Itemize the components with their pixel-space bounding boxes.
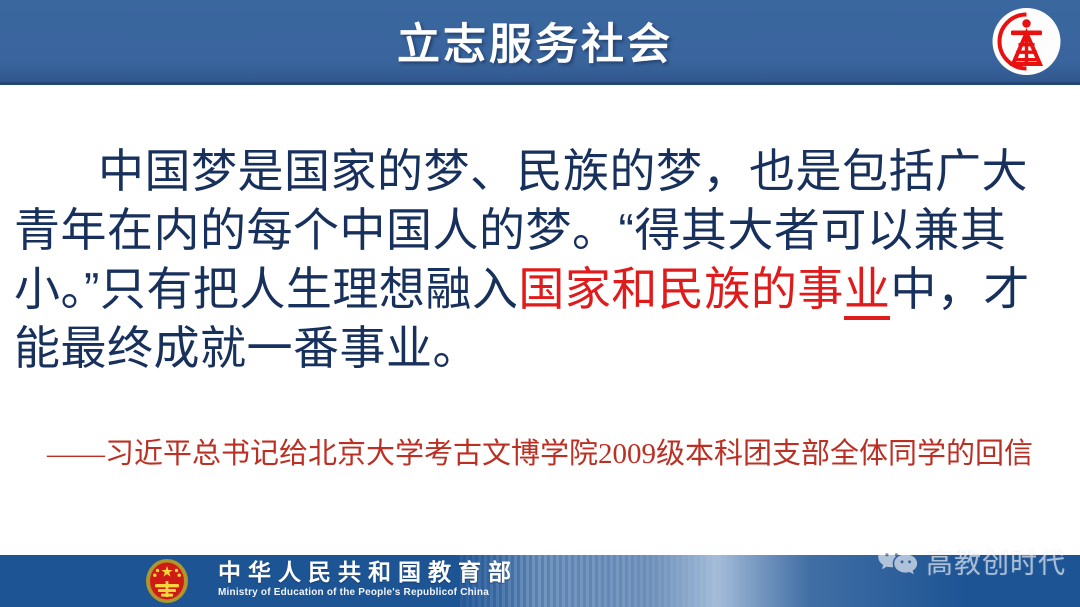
slide-body-text: 中国梦是国家的梦、民族的梦，也是包括广大青年在内的每个中国人的梦。“得其大者可以… — [14, 142, 1066, 378]
red-circular-institution-emblem-icon — [991, 7, 1062, 76]
body-segment-highlight: 国家和民族的事 — [518, 263, 844, 315]
ministry-name-cn: 中华人民共和国教育部 — [218, 559, 518, 586]
body-segment-highlight-underlined: 业 — [844, 263, 891, 320]
ministry-name-block: 中华人民共和国教育部 Ministry of Education of the … — [218, 559, 518, 599]
attribution-source: ——习近平总书记给北京大学考古文博学院2009级本科团支部全体同学的回信 — [0, 430, 1080, 472]
page-title: 立志服务社会 — [0, 0, 1080, 82]
ministry-name-en: Ministry of Education of the People's Re… — [218, 586, 518, 599]
presentation-slide: 立志服务社会 中国梦是国家的梦、民族的梦，也是包括广大青年在内的每个中国人的梦。… — [0, 0, 1080, 607]
national-emblem-icon — [143, 557, 191, 605]
wechat-account-name: 高教创时代 — [926, 542, 1066, 581]
wechat-watermark: 高教创时代 — [876, 542, 1066, 581]
wechat-icon — [876, 544, 918, 580]
